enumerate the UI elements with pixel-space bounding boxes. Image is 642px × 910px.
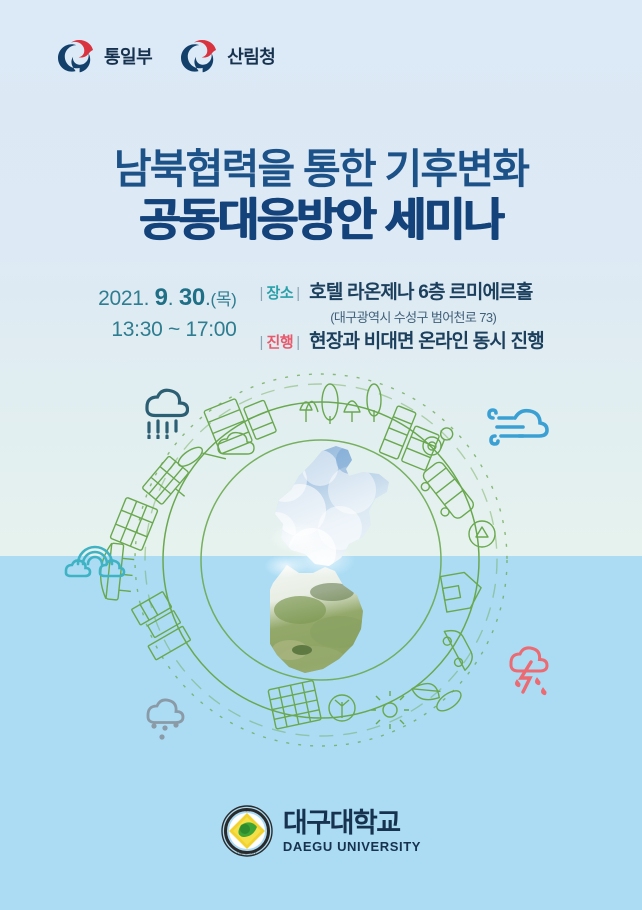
thunderstorm-icon [503,640,559,703]
tag-divider-left: | [257,284,267,304]
university-name-block: 대구대학교 DAEGU UNIVERSITY [283,810,421,853]
motif-building-left [204,389,277,454]
date-year: 2021. [98,287,149,310]
university-name-korean: 대구대학교 [283,810,421,837]
map-jeju-island [292,645,312,655]
detail-row-mode: | 진행 | 현장과 비대면 온라인 동시 진행 [257,330,544,355]
motif-sun [371,691,409,729]
event-info: 2021. 9. 30.(목) 13:30 ~ 17:00 | 장소 | 호텔 … [0,281,642,354]
motif-leaf-badge [329,695,355,721]
title-line-1: 남북협력을 통한 기후변화 [0,145,642,193]
organization-name: 산림청 [227,43,275,69]
wind-cloud-icon [487,405,549,454]
map-south-green-region [270,555,420,715]
motif-trees [300,384,381,424]
motif-recycle [469,521,495,547]
event-date: 2021. 9. 30.(목) [98,282,236,315]
university-footer: DAEGU UNIVERSITY 대구대학교 DAEGU UNIVERSITY [0,805,642,857]
svg-text:DAEGU: DAEGU [241,809,253,813]
event-schedule: 2021. 9. 30.(목) 13:30 ~ 17:00 [98,281,250,344]
organization-logo-forest-service: 산림청 [180,36,275,76]
detail-row-place: | 장소 | 호텔 라온제나 6층 르미에르홀 [257,281,544,306]
event-details: | 장소 | 호텔 라온제나 6층 르미에르홀 (대구광역시 수성구 범어천로 … [251,281,544,354]
mode-label: 진행 [266,333,293,353]
tag-divider-right: | [293,333,303,353]
rain-cloud-icon [135,383,189,444]
motif-apartments [268,680,321,729]
mode-value: 현장과 비대면 온라인 동시 진행 [309,330,544,355]
taegeuk-government-logo-icon [57,36,97,76]
motif-leaves [408,668,467,720]
university-name-english: DAEGU UNIVERSITY [283,840,421,853]
organization-name: 통일부 [104,43,152,69]
date-dot-1: . [168,287,174,310]
snow-cloud-icon [138,694,194,747]
tag-divider-left: | [257,333,267,353]
place-value: 호텔 라온제나 6층 르미에르홀 [309,281,532,306]
motif-industry [128,592,191,660]
place-label: 장소 [266,284,293,304]
event-time: 13:30 ~ 17:00 [98,315,236,345]
title-line-2: 공동대응방안 세미나 [0,193,642,246]
poster: 통일부 산림청 남북협력을 통한 기후변화 공동대응방안 세미나 2021. 9… [0,0,642,910]
daegu-university-emblem-icon: DAEGU UNIVERSITY [221,805,273,857]
place-address: (대구광역시 수성구 범어천로 73) [257,307,544,326]
tag-divider-right: | [293,284,303,304]
korean-peninsula-map [250,440,420,715]
date-weekday: (목) [210,290,236,309]
poster-title: 남북협력을 통한 기후변화 공동대응방안 세미나 [0,145,642,246]
organization-logo-unification: 통일부 [57,36,152,76]
taegeuk-government-logo-icon [180,36,220,76]
date-day: 30 [179,284,205,311]
rainbow-cloud-icon [62,530,128,583]
svg-text:UNIVERSITY: UNIVERSITY [237,852,257,856]
date-month: 9 [155,284,168,311]
government-logo-bar: 통일부 산림청 [0,30,642,82]
motif-car [439,625,477,673]
